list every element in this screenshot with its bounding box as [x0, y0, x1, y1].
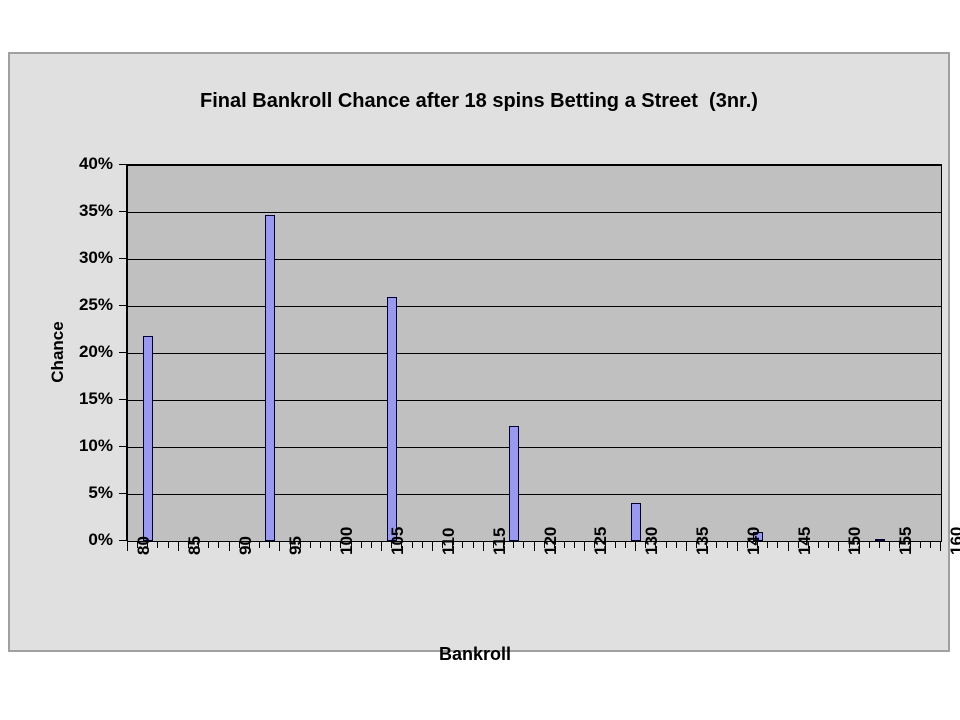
- x-major-tick-mark: [838, 541, 839, 551]
- x-minor-tick-mark: [879, 541, 880, 548]
- chart-title: Final Bankroll Chance after 18 spins Bet…: [10, 90, 948, 113]
- x-tick-label: 150: [845, 527, 865, 555]
- y-tick-label: 5%: [49, 483, 113, 503]
- gridline: [128, 165, 941, 166]
- gridline: [128, 353, 941, 354]
- x-tick-label: 125: [591, 527, 611, 555]
- x-major-tick-mark: [534, 541, 535, 551]
- x-minor-tick-mark: [320, 541, 321, 548]
- x-major-tick-mark: [737, 541, 738, 551]
- x-minor-tick-mark: [462, 541, 463, 548]
- bar: [387, 297, 397, 541]
- x-minor-tick-mark: [259, 541, 260, 548]
- x-tick-label: 80: [134, 536, 154, 555]
- x-tick-label: 145: [795, 527, 815, 555]
- y-tick-label: 25%: [49, 295, 113, 315]
- bar: [509, 426, 519, 541]
- x-tick-label: 100: [337, 527, 357, 555]
- x-minor-tick-mark: [361, 541, 362, 548]
- x-minor-tick-mark: [828, 541, 829, 548]
- x-minor-tick-mark: [615, 541, 616, 548]
- x-tick-label: 135: [693, 527, 713, 555]
- x-major-tick-mark: [584, 541, 585, 551]
- x-major-tick-mark: [381, 541, 382, 551]
- x-minor-tick-mark: [818, 541, 819, 548]
- gridline: [128, 306, 941, 307]
- x-major-tick-mark: [178, 541, 179, 551]
- y-tick-mark: [119, 399, 126, 400]
- x-major-tick-mark: [127, 541, 128, 551]
- x-tick-label: 130: [642, 527, 662, 555]
- x-minor-tick-mark: [157, 541, 158, 548]
- x-major-tick-mark: [940, 541, 941, 551]
- y-tick-label: 20%: [49, 342, 113, 362]
- y-tick-label: 30%: [49, 248, 113, 268]
- x-tick-label: 160: [947, 527, 960, 555]
- x-major-tick-mark: [432, 541, 433, 551]
- y-tick-mark: [119, 258, 126, 259]
- y-tick-label: 0%: [49, 530, 113, 550]
- x-minor-tick-mark: [564, 541, 565, 548]
- y-tick-mark: [119, 305, 126, 306]
- bar: [875, 539, 885, 541]
- x-minor-tick-mark: [676, 541, 677, 548]
- y-tick-mark: [119, 540, 126, 541]
- x-minor-tick-mark: [777, 541, 778, 548]
- x-minor-tick-mark: [523, 541, 524, 548]
- x-minor-tick-mark: [218, 541, 219, 548]
- y-tick-mark: [119, 211, 126, 212]
- x-major-tick-mark: [483, 541, 484, 551]
- plot-area: [127, 164, 942, 542]
- y-tick-label: 10%: [49, 436, 113, 456]
- y-tick-label: 40%: [49, 154, 113, 174]
- y-tick-mark: [119, 164, 126, 165]
- bar: [265, 215, 275, 541]
- x-minor-tick-mark: [168, 541, 169, 548]
- x-major-tick-mark: [889, 541, 890, 551]
- gridline: [128, 494, 941, 495]
- x-minor-tick-mark: [412, 541, 413, 548]
- bar: [143, 336, 153, 541]
- x-minor-tick-mark: [208, 541, 209, 548]
- x-minor-tick-mark: [310, 541, 311, 548]
- gridline: [128, 212, 941, 213]
- x-tick-label: 85: [185, 536, 205, 555]
- x-minor-tick-mark: [767, 541, 768, 548]
- x-minor-tick-mark: [473, 541, 474, 548]
- x-major-tick-mark: [686, 541, 687, 551]
- y-tick-mark: [119, 493, 126, 494]
- x-tick-label: 105: [388, 527, 408, 555]
- x-major-tick-mark: [330, 541, 331, 551]
- x-tick-label: 115: [490, 528, 510, 555]
- x-minor-tick-mark: [574, 541, 575, 548]
- x-minor-tick-mark: [371, 541, 372, 548]
- y-tick-label: 15%: [49, 389, 113, 409]
- x-tick-label: 90: [236, 536, 256, 555]
- x-minor-tick-mark: [625, 541, 626, 548]
- gridline: [128, 400, 941, 401]
- y-tick-label: 35%: [49, 201, 113, 221]
- bar: [631, 503, 641, 541]
- x-tick-label: 155: [896, 527, 916, 555]
- x-axis-title: Bankroll: [10, 644, 940, 665]
- x-major-tick-mark: [635, 541, 636, 551]
- x-minor-tick-mark: [930, 541, 931, 548]
- x-minor-tick-mark: [422, 541, 423, 548]
- gridline: [128, 447, 941, 448]
- x-minor-tick-mark: [869, 541, 870, 548]
- gridline: [128, 259, 941, 260]
- chart-frame: Final Bankroll Chance after 18 spins Bet…: [8, 52, 950, 652]
- x-major-tick-mark: [788, 541, 789, 551]
- y-tick-mark: [119, 352, 126, 353]
- x-tick-label: 140: [744, 527, 764, 555]
- x-minor-tick-mark: [269, 541, 270, 548]
- x-minor-tick-mark: [716, 541, 717, 548]
- x-major-tick-mark: [279, 541, 280, 551]
- x-tick-label: 95: [286, 536, 306, 555]
- x-tick-label: 110: [439, 528, 459, 555]
- x-minor-tick-mark: [727, 541, 728, 548]
- x-major-tick-mark: [229, 541, 230, 551]
- y-tick-mark: [119, 446, 126, 447]
- x-minor-tick-mark: [513, 541, 514, 548]
- x-minor-tick-mark: [666, 541, 667, 548]
- x-minor-tick-mark: [920, 541, 921, 548]
- x-tick-label: 120: [541, 527, 561, 555]
